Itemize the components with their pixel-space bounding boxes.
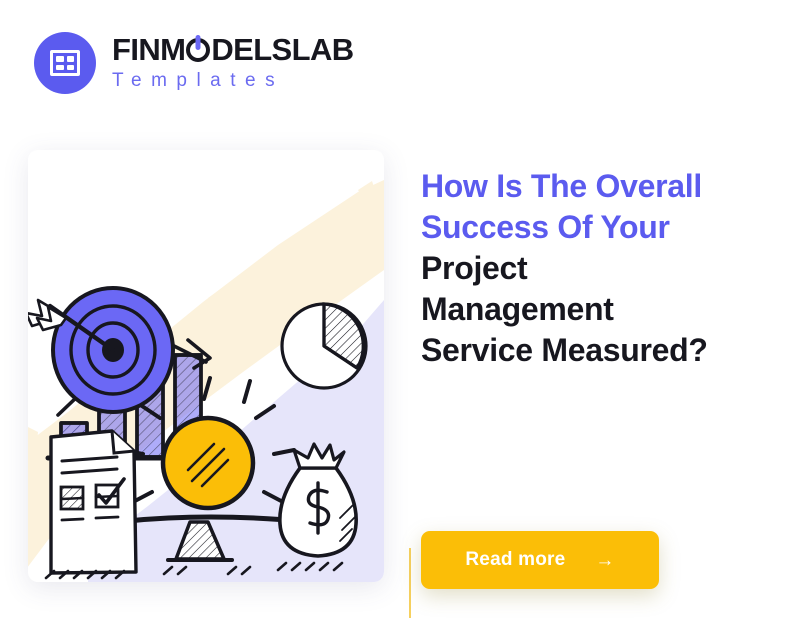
- glowing-yellow-coin: [163, 418, 253, 508]
- power-o-icon: [186, 38, 210, 62]
- headline-main-line-1: Project: [421, 248, 789, 289]
- checklist-document: [51, 431, 136, 573]
- hero-content: How Is The Overall Success Of Your Proje…: [421, 166, 789, 371]
- logo-mark: [34, 32, 96, 94]
- headline-main-line-3: Service Measured?: [421, 330, 789, 371]
- brand-name-part1: FINM: [112, 34, 185, 66]
- brand-logo[interactable]: FINMDELSLAB Templates: [34, 32, 354, 94]
- accent-line: [409, 548, 411, 618]
- headline-accent-line-1: How Is The Overall: [421, 166, 789, 207]
- grid-window-icon: [50, 50, 80, 76]
- business-success-illustration: [28, 150, 384, 582]
- brand-name: FINMDELSLAB: [112, 34, 354, 66]
- read-more-button[interactable]: Read more →: [421, 531, 659, 589]
- headline-main-line-2: Management: [421, 289, 789, 330]
- logo-text: FINMDELSLAB Templates: [112, 34, 354, 92]
- page-title: How Is The Overall Success Of Your Proje…: [421, 166, 789, 371]
- read-more-label: Read more: [465, 549, 565, 571]
- headline-accent-line-2: Success Of Your: [421, 207, 789, 248]
- brand-tagline: Templates: [112, 70, 354, 92]
- pie-chart: [282, 304, 366, 388]
- brand-name-part2: DELSLAB: [211, 34, 353, 66]
- illustration-card: [28, 150, 384, 582]
- promo-banner: FINMDELSLAB Templates: [0, 0, 800, 618]
- arrow-right-icon: →: [595, 551, 614, 570]
